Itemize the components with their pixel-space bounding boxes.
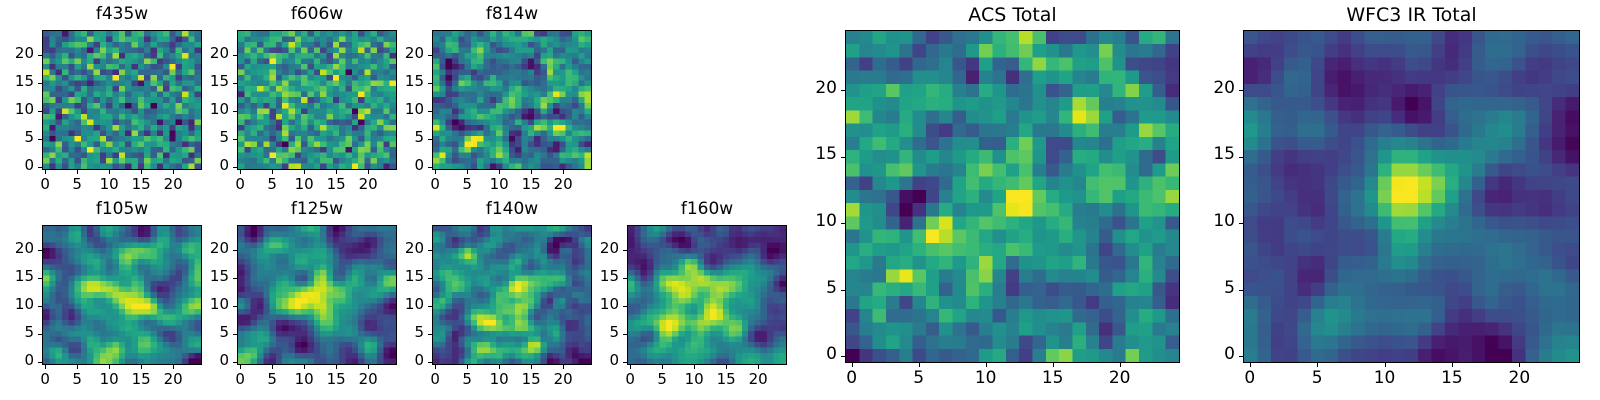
panel-title: WFC3 IR Total xyxy=(1243,4,1580,26)
x-tick xyxy=(986,363,987,367)
x-tick xyxy=(304,170,305,174)
y-tick-label: 15 xyxy=(2,72,34,90)
x-tick xyxy=(531,365,532,369)
y-tick-label: 5 xyxy=(197,323,229,341)
y-tick-label: 15 xyxy=(392,72,424,90)
heatmap-image xyxy=(237,30,397,170)
x-tick xyxy=(1120,363,1121,367)
x-tick xyxy=(435,365,436,369)
y-tick xyxy=(233,250,237,251)
y-tick-label: 20 xyxy=(2,44,34,62)
y-tick-label: 0 xyxy=(392,156,424,174)
y-tick xyxy=(233,83,237,84)
panel-f606w: f606w0510152005101520 xyxy=(197,4,417,204)
heatmap-canvas xyxy=(238,31,396,169)
heatmap-canvas xyxy=(43,226,201,364)
y-tick xyxy=(623,250,627,251)
x-tick-label: 20 xyxy=(346,370,390,388)
panel-wfc3-ir-total: WFC3 IR Total0510152005101520 xyxy=(1203,4,1600,397)
y-tick xyxy=(623,306,627,307)
y-tick xyxy=(428,306,432,307)
x-tick xyxy=(173,170,174,174)
y-tick-label: 5 xyxy=(2,323,34,341)
x-tick xyxy=(467,170,468,174)
panel-acs-total: ACS Total0510152005101520 xyxy=(805,4,1200,397)
y-tick xyxy=(623,334,627,335)
y-tick xyxy=(38,306,42,307)
y-tick-label: 20 xyxy=(1203,78,1235,98)
y-tick-label: 0 xyxy=(2,156,34,174)
y-tick xyxy=(841,356,845,357)
x-tick xyxy=(435,170,436,174)
panel-title: f435w xyxy=(42,4,202,24)
y-tick xyxy=(841,157,845,158)
x-tick-label: 10 xyxy=(1363,368,1407,388)
y-tick-label: 10 xyxy=(197,295,229,313)
y-tick-label: 15 xyxy=(392,267,424,285)
y-tick-label: 5 xyxy=(392,128,424,146)
y-tick-label: 0 xyxy=(197,156,229,174)
y-tick xyxy=(1239,223,1243,224)
y-tick-label: 0 xyxy=(587,351,619,369)
y-tick-label: 15 xyxy=(1203,144,1235,164)
x-tick xyxy=(499,365,500,369)
heatmap-image xyxy=(237,225,397,365)
y-tick-label: 0 xyxy=(1203,344,1235,364)
x-tick-label: 20 xyxy=(541,370,585,388)
panel-title: f160w xyxy=(627,199,787,219)
x-tick xyxy=(45,365,46,369)
y-tick-label: 0 xyxy=(2,351,34,369)
x-tick xyxy=(173,365,174,369)
x-tick xyxy=(563,170,564,174)
y-tick-label: 15 xyxy=(805,144,837,164)
y-tick-label: 5 xyxy=(805,278,837,298)
x-tick xyxy=(1385,363,1386,367)
y-tick xyxy=(233,306,237,307)
x-tick xyxy=(77,170,78,174)
y-tick-label: 10 xyxy=(392,295,424,313)
x-tick xyxy=(240,170,241,174)
x-tick xyxy=(336,365,337,369)
x-tick xyxy=(109,170,110,174)
panel-title: f606w xyxy=(237,4,397,24)
heatmap-image xyxy=(432,225,592,365)
y-tick xyxy=(233,334,237,335)
y-tick xyxy=(233,362,237,363)
y-tick-label: 20 xyxy=(805,78,837,98)
y-tick-label: 5 xyxy=(587,323,619,341)
heatmap-image xyxy=(845,30,1180,363)
x-tick xyxy=(694,365,695,369)
heatmap-canvas xyxy=(433,226,591,364)
y-tick-label: 0 xyxy=(392,351,424,369)
x-tick xyxy=(726,365,727,369)
panel-title: f140w xyxy=(432,199,592,219)
y-tick-label: 10 xyxy=(1203,211,1235,231)
y-tick xyxy=(841,290,845,291)
y-tick xyxy=(428,55,432,56)
heatmap-image xyxy=(1243,30,1580,363)
heatmap-image xyxy=(432,30,592,170)
panel-f814w: f814w0510152005101520 xyxy=(392,4,612,204)
x-tick xyxy=(1317,363,1318,367)
y-tick-label: 10 xyxy=(2,295,34,313)
x-tick xyxy=(662,365,663,369)
y-tick xyxy=(38,250,42,251)
y-tick xyxy=(428,362,432,363)
y-tick-label: 10 xyxy=(392,100,424,118)
y-tick xyxy=(38,362,42,363)
y-tick xyxy=(38,111,42,112)
panel-f125w: f125w0510152005101520 xyxy=(197,199,417,399)
heatmap-canvas xyxy=(1244,31,1579,362)
y-tick-label: 5 xyxy=(1203,278,1235,298)
y-tick xyxy=(233,167,237,168)
y-tick xyxy=(623,362,627,363)
y-tick xyxy=(38,139,42,140)
x-tick-label: 0 xyxy=(1228,368,1272,388)
y-tick xyxy=(1239,90,1243,91)
heatmap-image xyxy=(42,30,202,170)
heatmap-image xyxy=(42,225,202,365)
y-tick-label: 20 xyxy=(197,239,229,257)
x-tick xyxy=(1250,363,1251,367)
y-tick xyxy=(428,278,432,279)
heatmap-canvas xyxy=(846,31,1179,362)
x-tick xyxy=(77,365,78,369)
y-tick xyxy=(233,278,237,279)
y-tick xyxy=(38,167,42,168)
x-tick-label: 5 xyxy=(1295,368,1339,388)
x-tick xyxy=(758,365,759,369)
panel-f105w: f105w0510152005101520 xyxy=(2,199,222,399)
y-tick-label: 15 xyxy=(2,267,34,285)
y-tick-label: 20 xyxy=(587,239,619,257)
x-tick xyxy=(467,365,468,369)
x-tick-label: 20 xyxy=(151,175,195,193)
y-tick xyxy=(38,55,42,56)
y-tick xyxy=(233,139,237,140)
panel-f160w: f160w0510152005101520 xyxy=(587,199,807,399)
y-tick xyxy=(428,250,432,251)
y-tick xyxy=(841,90,845,91)
y-tick-label: 0 xyxy=(197,351,229,369)
y-tick-label: 10 xyxy=(587,295,619,313)
heatmap-canvas xyxy=(238,226,396,364)
y-tick-label: 5 xyxy=(392,323,424,341)
y-tick xyxy=(1239,157,1243,158)
x-tick xyxy=(1519,363,1520,367)
y-tick-label: 15 xyxy=(197,267,229,285)
x-tick-label: 10 xyxy=(964,368,1008,388)
x-tick-label: 20 xyxy=(541,175,585,193)
panel-f435w: f435w0510152005101520 xyxy=(2,4,222,204)
heatmap-canvas xyxy=(433,31,591,169)
y-tick xyxy=(428,83,432,84)
y-tick xyxy=(1239,290,1243,291)
x-tick xyxy=(919,363,920,367)
x-tick xyxy=(240,365,241,369)
heatmap-canvas xyxy=(43,31,201,169)
y-tick xyxy=(38,334,42,335)
x-tick-label: 20 xyxy=(151,370,195,388)
x-tick xyxy=(1053,363,1054,367)
y-tick xyxy=(428,111,432,112)
y-tick xyxy=(233,111,237,112)
y-tick xyxy=(1239,356,1243,357)
y-tick xyxy=(38,83,42,84)
y-tick xyxy=(428,139,432,140)
x-tick-label: 20 xyxy=(346,175,390,193)
x-tick xyxy=(368,170,369,174)
y-tick-label: 0 xyxy=(805,344,837,364)
x-tick xyxy=(272,170,273,174)
x-tick xyxy=(531,170,532,174)
x-tick xyxy=(852,363,853,367)
y-tick-label: 10 xyxy=(197,100,229,118)
x-tick-label: 15 xyxy=(1430,368,1474,388)
panel-f140w: f140w0510152005101520 xyxy=(392,199,612,399)
y-tick xyxy=(841,223,845,224)
x-tick xyxy=(563,365,564,369)
y-tick xyxy=(428,167,432,168)
y-tick-label: 5 xyxy=(197,128,229,146)
x-tick xyxy=(499,170,500,174)
y-tick-label: 20 xyxy=(197,44,229,62)
x-tick xyxy=(109,365,110,369)
y-tick-label: 20 xyxy=(392,239,424,257)
panel-title: f105w xyxy=(42,199,202,219)
x-tick xyxy=(630,365,631,369)
y-tick-label: 5 xyxy=(2,128,34,146)
y-tick-label: 20 xyxy=(2,239,34,257)
y-tick-label: 10 xyxy=(2,100,34,118)
y-tick-label: 15 xyxy=(587,267,619,285)
x-tick xyxy=(1452,363,1453,367)
x-tick-label: 20 xyxy=(736,370,780,388)
figure-canvas: f435w0510152005101520f606w05101520051015… xyxy=(0,0,1600,400)
x-tick xyxy=(368,365,369,369)
panel-title: f814w xyxy=(432,4,592,24)
y-tick xyxy=(428,334,432,335)
x-tick xyxy=(141,365,142,369)
heatmap-image xyxy=(627,225,787,365)
x-tick xyxy=(336,170,337,174)
panel-title: ACS Total xyxy=(845,4,1180,26)
y-tick xyxy=(623,278,627,279)
x-tick-label: 20 xyxy=(1098,368,1142,388)
x-tick-label: 5 xyxy=(897,368,941,388)
x-tick xyxy=(304,365,305,369)
x-tick xyxy=(45,170,46,174)
y-tick-label: 10 xyxy=(805,211,837,231)
panel-title: f125w xyxy=(237,199,397,219)
y-tick-label: 20 xyxy=(392,44,424,62)
y-tick xyxy=(233,55,237,56)
x-tick-label: 15 xyxy=(1031,368,1075,388)
y-tick-label: 15 xyxy=(197,72,229,90)
x-tick xyxy=(272,365,273,369)
x-tick xyxy=(141,170,142,174)
heatmap-canvas xyxy=(628,226,786,364)
x-tick-label: 0 xyxy=(830,368,874,388)
x-tick-label: 20 xyxy=(1497,368,1541,388)
y-tick xyxy=(38,278,42,279)
